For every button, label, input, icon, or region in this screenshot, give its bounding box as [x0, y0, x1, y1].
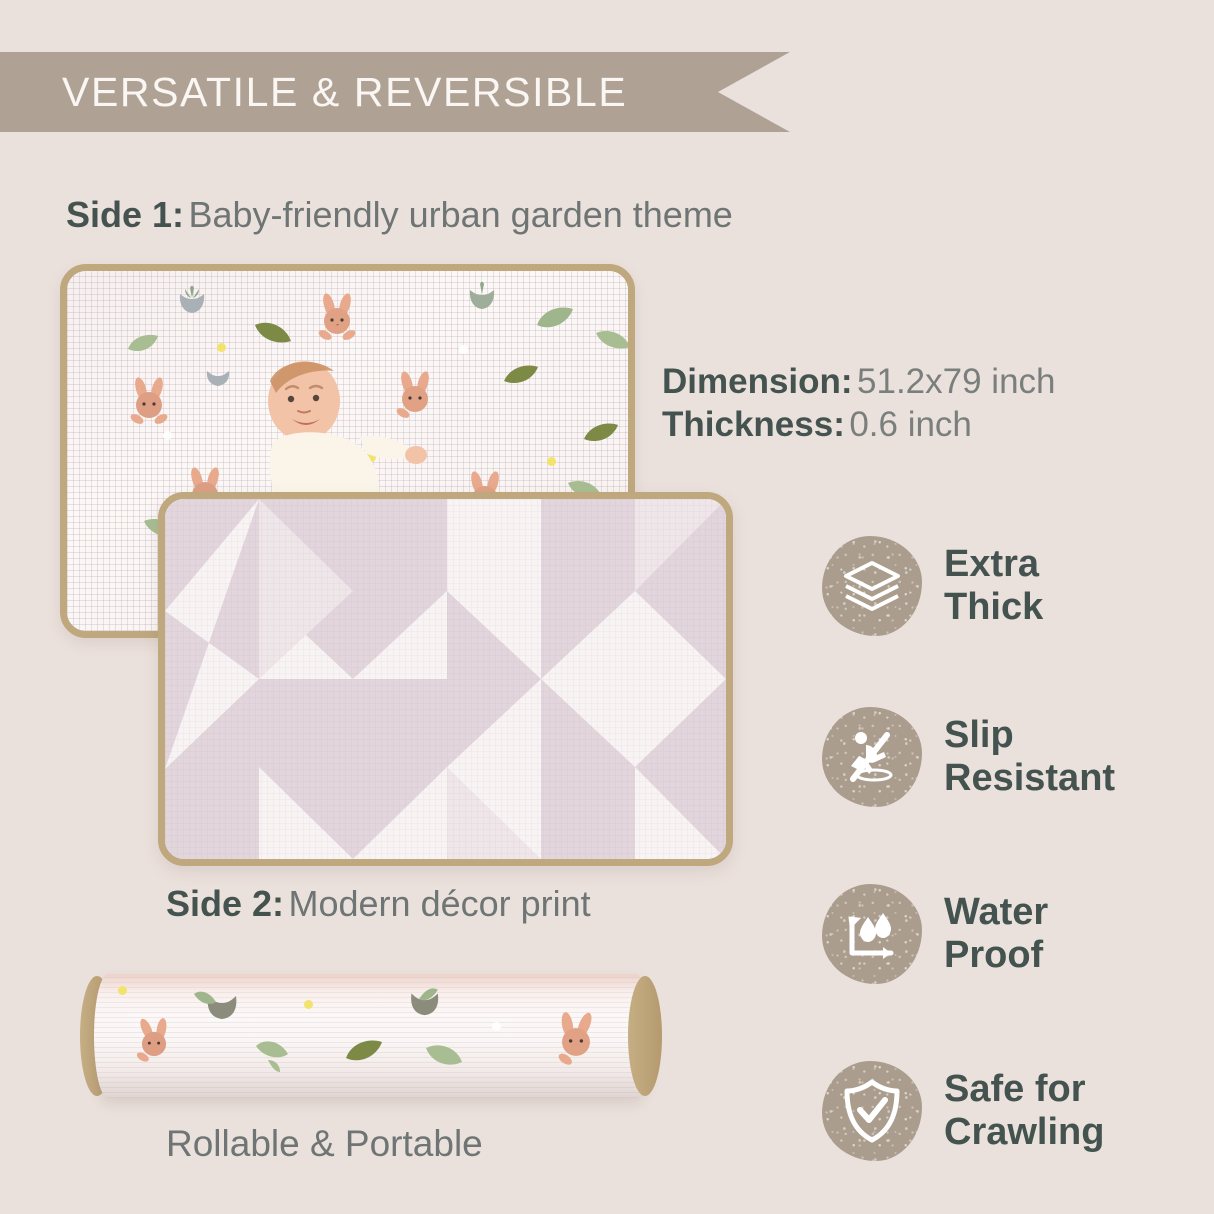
- yellow-dot: [217, 343, 226, 352]
- bunny-icon: [132, 1018, 176, 1070]
- side2-description: Modern décor print: [289, 883, 591, 924]
- feature-slip-resistant: Slip Resistant: [822, 698, 1214, 816]
- shield-check-icon: [843, 1078, 901, 1144]
- water-drop-icon: [841, 903, 903, 965]
- thickness-value: 0.6 inch: [849, 405, 972, 444]
- mat-side2-pattern: [165, 499, 726, 859]
- yellow-dot: [547, 457, 556, 466]
- tulip-icon: [394, 986, 444, 1018]
- slip-resistant-icon: [840, 725, 904, 789]
- feature-badge: [822, 536, 922, 636]
- yellow-dot: [118, 986, 127, 995]
- dimension-row: Dimension: 51.2x79 inch: [662, 360, 1056, 403]
- side1-heading: Side 1: Baby-friendly urban garden theme: [66, 194, 733, 236]
- layers-icon: [841, 557, 903, 615]
- roll-end-cap-right: [628, 976, 662, 1096]
- white-dot: [459, 345, 468, 354]
- mat-side2-image: [158, 492, 733, 866]
- side2-heading: Side 2: Modern décor print: [166, 883, 591, 925]
- feature-water-proof: Water Proof: [822, 875, 1214, 993]
- banner-ribbon: VERSATILE & REVERSIBLE: [0, 52, 790, 132]
- dimension-label: Dimension:: [662, 362, 853, 401]
- leaf-icon: [595, 327, 631, 351]
- banner-title: VERSATILE & REVERSIBLE: [0, 69, 627, 116]
- feature-badge: [822, 707, 922, 807]
- leaf-icon: [535, 305, 575, 331]
- bunny-icon: [127, 377, 171, 433]
- dimension-value: 51.2x79 inch: [857, 362, 1055, 401]
- rollable-description: Rollable & Portable: [166, 1123, 483, 1164]
- feature-safe-for-crawling: Safe for Crawling: [822, 1052, 1214, 1170]
- feature-badge: [822, 1061, 922, 1161]
- feature-label: Water Proof: [944, 891, 1048, 977]
- white-dot: [492, 1022, 501, 1031]
- feature-badge: [822, 884, 922, 984]
- tulip-icon: [175, 285, 209, 315]
- tulip-icon: [203, 365, 235, 387]
- mat-rolled-image: [72, 974, 672, 1098]
- roll-surface: [94, 974, 650, 1098]
- specs-block: Dimension: 51.2x79 inch Thickness: 0.6 i…: [662, 360, 1056, 447]
- thickness-label: Thickness:: [662, 405, 845, 444]
- leaf-icon: [253, 319, 293, 345]
- bunny-icon: [552, 1012, 600, 1072]
- feature-label: Slip Resistant: [944, 714, 1115, 800]
- infographic-root: VERSATILE & REVERSIBLE Side 1: Baby-frie…: [0, 0, 1214, 1214]
- leaf-icon: [254, 1036, 294, 1076]
- feature-label: Safe for Crawling: [944, 1068, 1104, 1154]
- tulip-icon: [190, 988, 242, 1022]
- side1-description: Baby-friendly urban garden theme: [189, 194, 733, 235]
- side1-label: Side 1:: [66, 194, 184, 235]
- yellow-dot: [304, 1000, 313, 1009]
- feature-label: Extra Thick: [944, 543, 1043, 629]
- tulip-icon: [465, 281, 499, 311]
- leaf-icon: [503, 363, 539, 387]
- leaf-icon: [127, 333, 159, 355]
- leaf-icon: [424, 1040, 468, 1070]
- leaf-icon: [344, 1036, 384, 1066]
- thickness-row: Thickness: 0.6 inch: [662, 403, 1056, 446]
- white-dot: [163, 431, 172, 440]
- bunny-icon: [315, 293, 359, 349]
- leaf-icon: [583, 421, 619, 445]
- side2-label: Side 2:: [166, 883, 284, 924]
- feature-extra-thick: Extra Thick: [822, 527, 1214, 645]
- rollable-caption: Rollable & Portable: [166, 1123, 483, 1165]
